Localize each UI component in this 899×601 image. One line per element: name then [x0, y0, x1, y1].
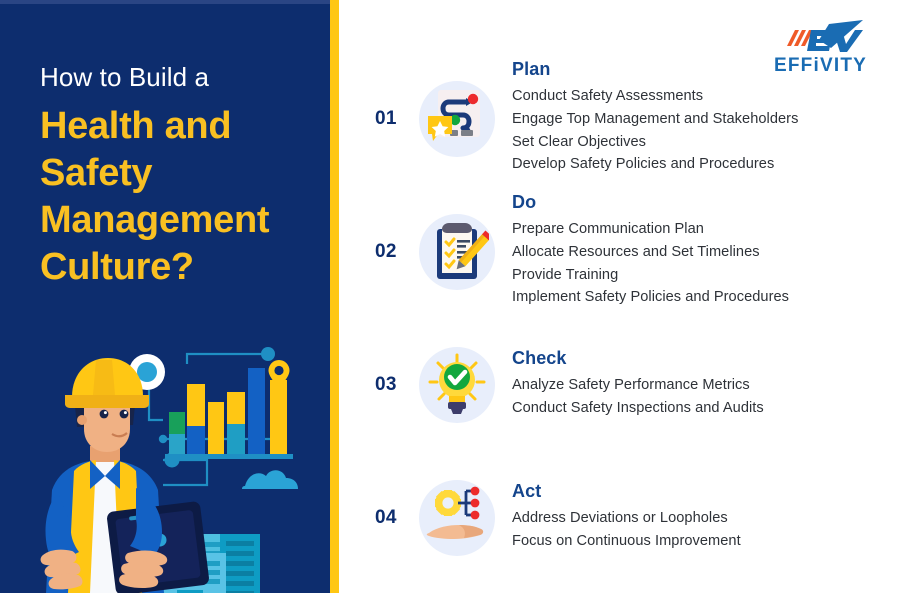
step-line: Conduct Safety Assessments	[512, 85, 885, 108]
step-line: Develop Safety Policies and Procedures	[512, 153, 885, 176]
steps-list: 01 Plan Conduct	[375, 52, 885, 584]
step-body: Plan Conduct Safety Assessments Engage T…	[512, 59, 885, 178]
step-line: Address Deviations or Loopholes	[512, 507, 885, 530]
title-kicker: How to Build a	[40, 60, 310, 94]
step-title: Do	[512, 192, 885, 213]
step-line: Analyze Safety Performance Metrics	[512, 374, 885, 397]
step-title: Act	[512, 481, 885, 502]
step-item-check[interactable]: 03	[375, 318, 885, 451]
title-line-2: Safety	[40, 150, 310, 197]
step-item-do[interactable]: 02	[375, 185, 885, 318]
step-body: Do Prepare Communication Plan Allocate R…	[512, 192, 885, 311]
step-line: Conduct Safety Inspections and Audits	[512, 397, 885, 420]
step-title: Plan	[512, 59, 885, 80]
infographic-canvas: How to Build a Health and Safety Managem…	[0, 0, 899, 601]
hand-gear-nodes-icon	[419, 480, 495, 556]
step-number: 04	[375, 507, 419, 529]
clipboard-checklist-pencil-icon	[419, 214, 495, 290]
step-line: Set Clear Objectives	[512, 131, 885, 154]
step-item-act[interactable]: 04	[375, 451, 885, 584]
step-line: Focus on Continuous Improvement	[512, 530, 885, 553]
plan-route-arrow-icon	[419, 81, 495, 157]
step-number: 02	[375, 241, 419, 263]
safety-worker-illustration	[32, 340, 330, 593]
step-title: Check	[512, 348, 885, 369]
title-line-4: Culture?	[40, 244, 310, 291]
step-line: Provide Training	[512, 264, 885, 287]
step-line: Allocate Resources and Set Timelines	[512, 241, 885, 264]
step-line: Implement Safety Policies and Procedures	[512, 286, 885, 309]
panel-top-accent-line	[0, 0, 330, 4]
step-number: 01	[375, 108, 419, 130]
hero-panel: How to Build a Health and Safety Managem…	[0, 0, 330, 593]
step-number: 03	[375, 374, 419, 396]
step-body: Check Analyze Safety Performance Metrics…	[512, 348, 885, 421]
step-body: Act Address Deviations or Loopholes Focu…	[512, 481, 885, 554]
title-line-3: Management	[40, 197, 310, 244]
lightbulb-check-icon	[419, 347, 495, 423]
page-title: How to Build a Health and Safety Managem…	[40, 60, 310, 291]
title-main: Health and Safety Management Culture?	[40, 103, 310, 291]
step-line: Engage Top Management and Stakeholders	[512, 108, 885, 131]
panel-yellow-accent-strip	[330, 0, 339, 593]
title-line-1: Health and	[40, 103, 310, 150]
step-line: Prepare Communication Plan	[512, 218, 885, 241]
step-item-plan[interactable]: 01 Plan Conduct	[375, 52, 885, 185]
